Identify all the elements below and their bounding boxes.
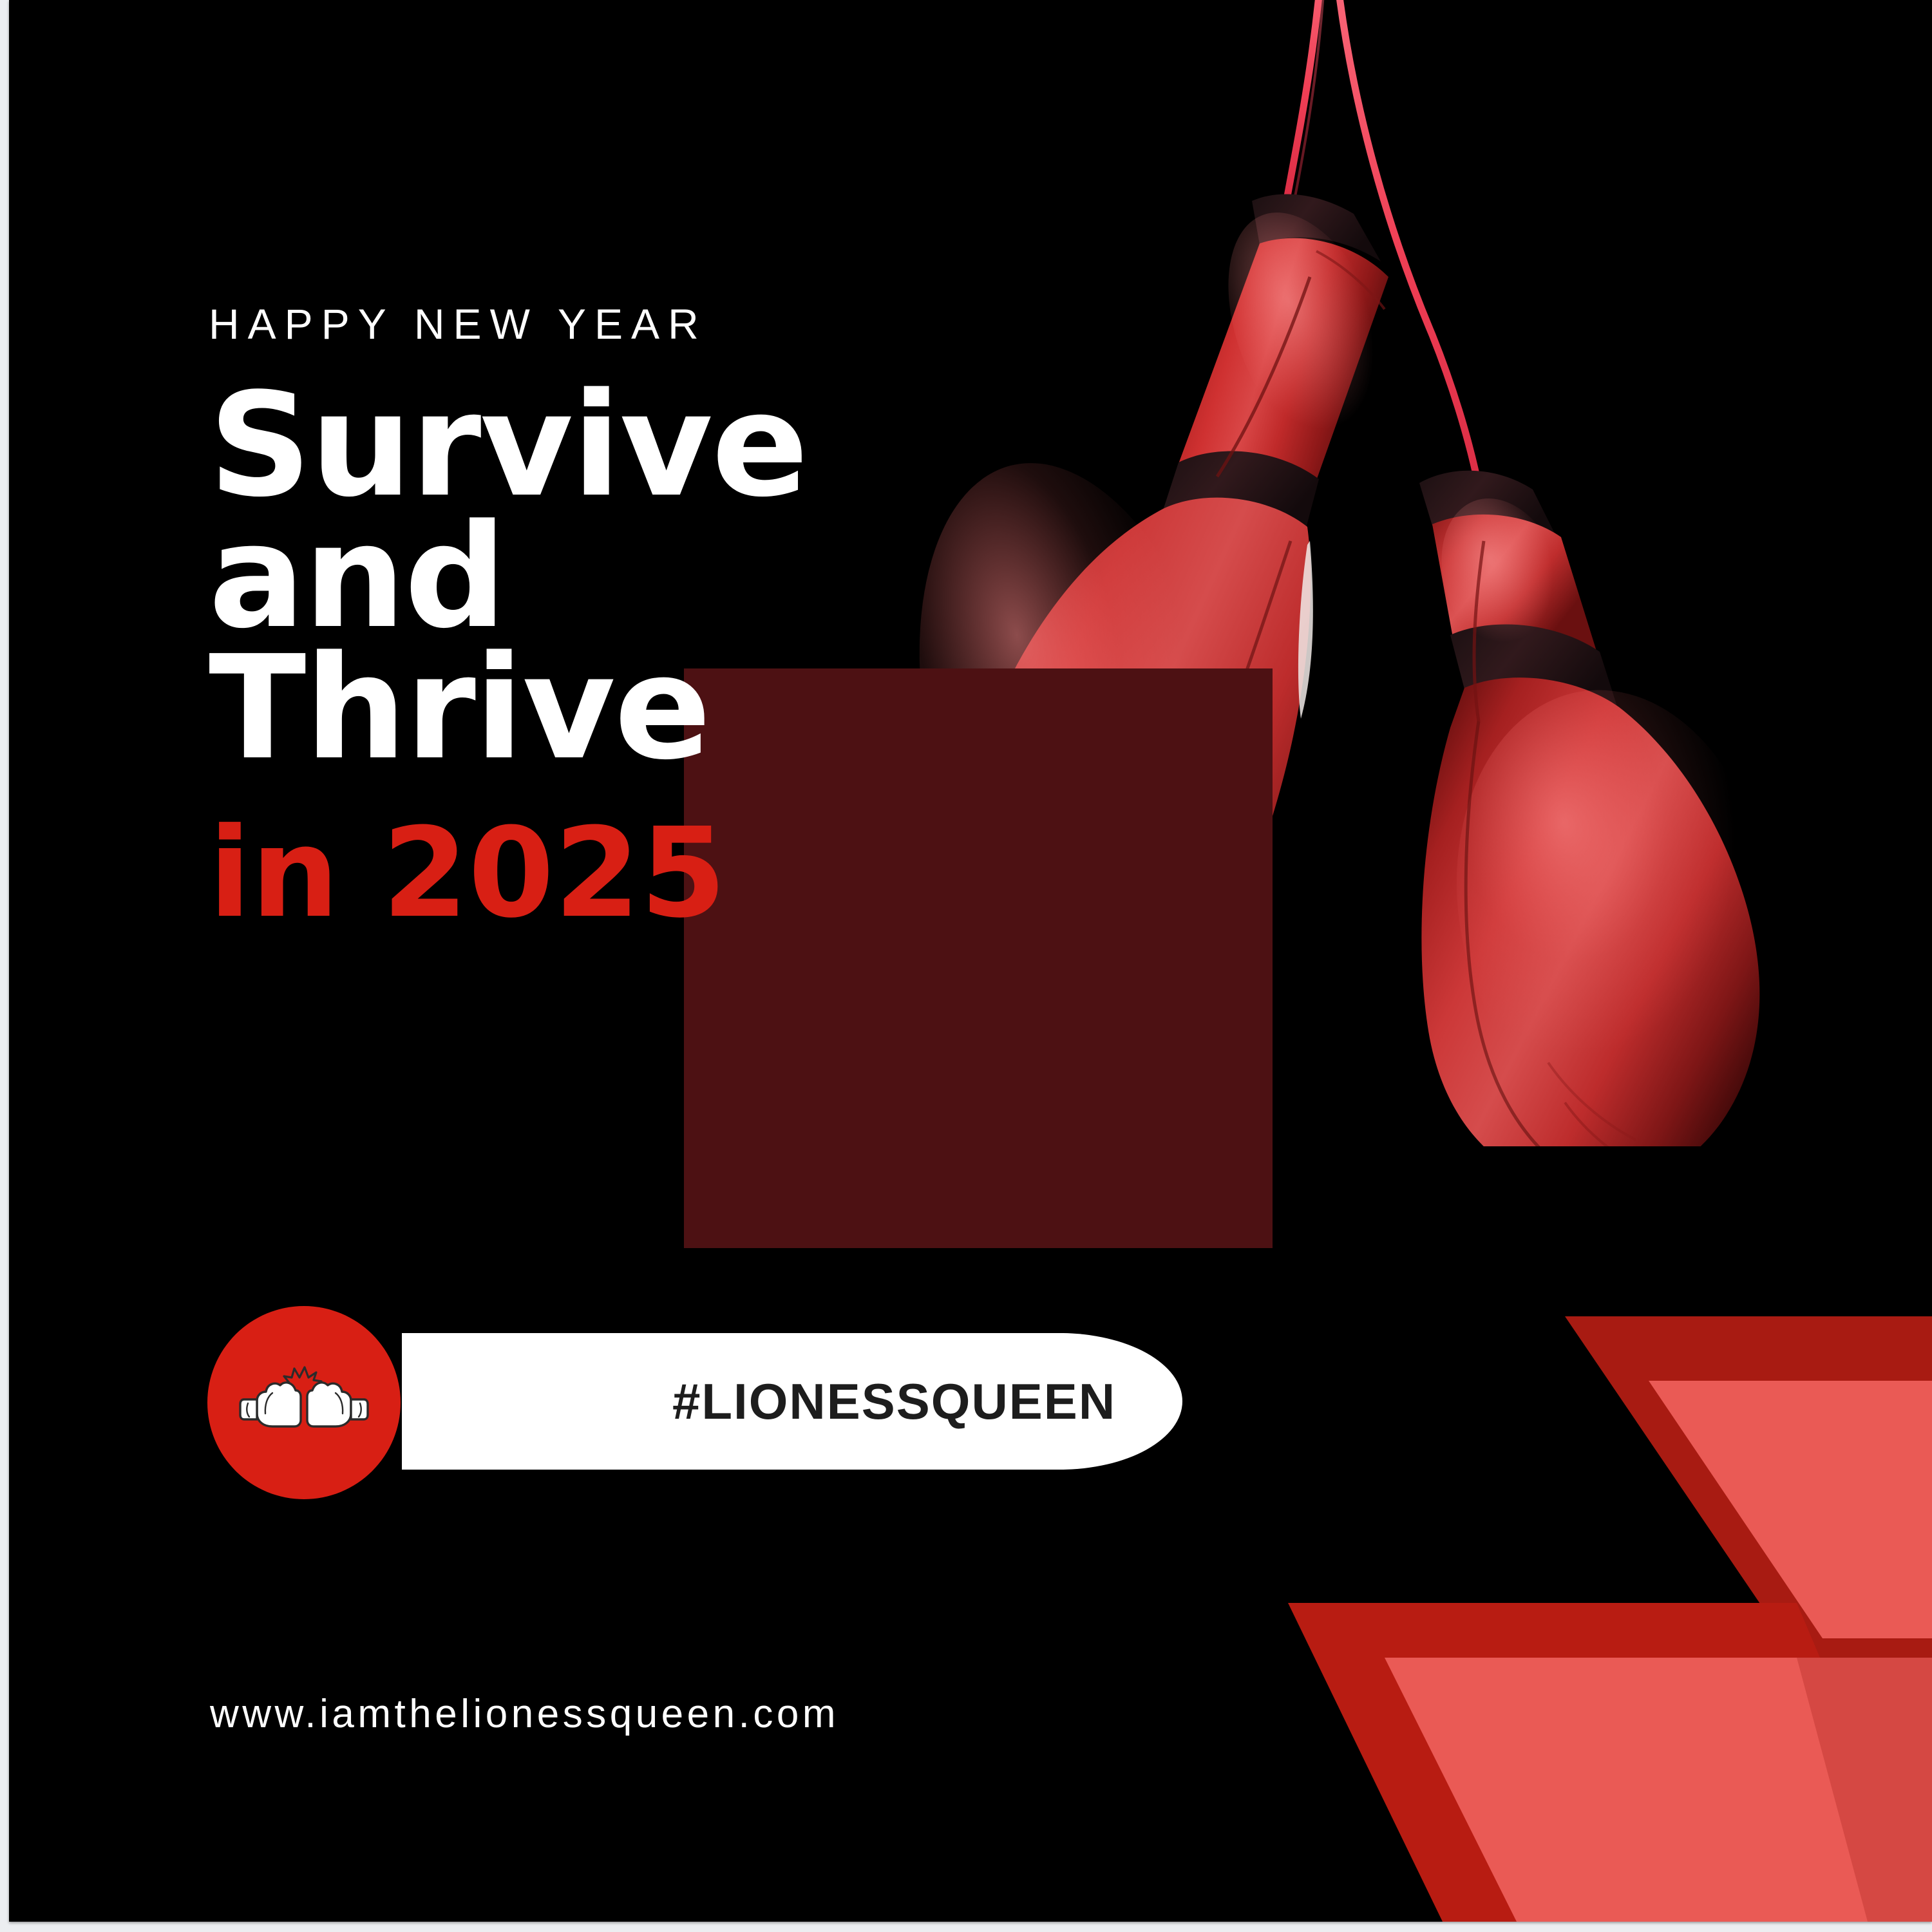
chevron-light-lower: [1385, 1658, 1932, 1922]
chevron-overlap-shade: [1797, 1658, 1932, 1922]
hashtag-text: #LIONESSQUEEN: [672, 1372, 1116, 1431]
headline-line-3: Thrive: [209, 643, 1175, 774]
year-text: in 2025: [209, 812, 1175, 936]
chevron-light-upper: [1649, 1381, 1932, 1638]
headline-block: HAPPY NEW YEAR Survive and Thrive in 202…: [209, 303, 1175, 936]
badge-circle: [207, 1306, 401, 1499]
headline-line-1: Survive: [209, 380, 1175, 511]
poster-canvas: HAPPY NEW YEAR Survive and Thrive in 202…: [9, 0, 1932, 1922]
poster-frame: HAPPY NEW YEAR Survive and Thrive in 202…: [0, 0, 1932, 1932]
chevron-dark-lower: [1288, 1603, 1932, 1922]
hashtag-banner: #LIONESSQUEEN: [402, 1333, 1182, 1470]
glove-laces: [1284, 0, 1484, 515]
chevron-dark-upper: [1565, 1316, 1932, 1658]
headline-stack: Survive and Thrive: [209, 380, 1175, 775]
eyebrow-text: HAPPY NEW YEAR: [209, 303, 1175, 345]
headline-line-2: and: [209, 511, 1175, 643]
corner-chevron-shapes: [1288, 1278, 1932, 1922]
right-glove: [1419, 471, 1795, 1146]
boxing-gloves-fist-bump-icon: [235, 1361, 373, 1444]
website-url[interactable]: www.iamthelionessqueen.com: [210, 1691, 839, 1737]
